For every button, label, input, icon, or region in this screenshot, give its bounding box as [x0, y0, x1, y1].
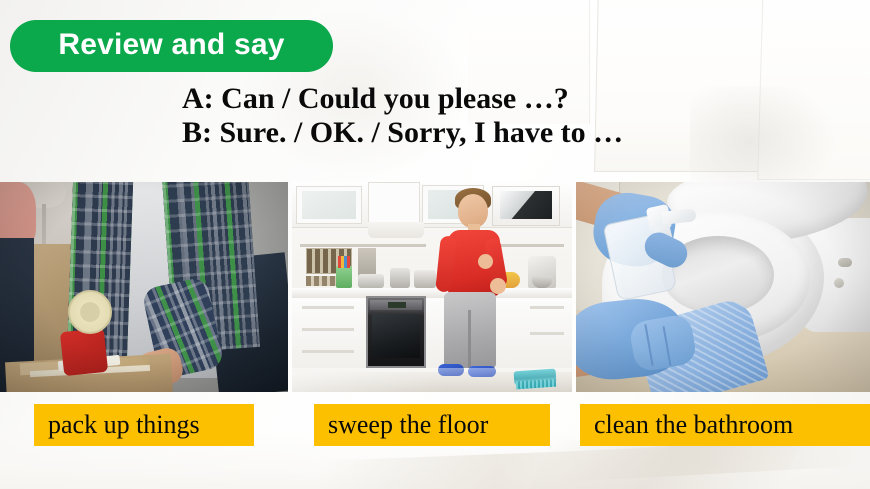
section-title-label: Review and say	[58, 30, 284, 62]
photo-clean-the-bathroom-scene	[576, 182, 870, 392]
photo-strip	[0, 182, 870, 392]
photo-pack-up-things	[0, 182, 288, 392]
background-light-streak-a	[317, 443, 788, 489]
caption-clean-the-bathroom-label: clean the bathroom	[580, 412, 807, 438]
caption-pack-up-things: pack up things	[34, 404, 254, 446]
slide-canvas: Review and say A: Can / Could you please…	[0, 0, 870, 489]
caption-pack-up-things-label: pack up things	[34, 412, 214, 438]
photo-sweep-the-floor	[292, 182, 572, 392]
dialogue-line-a: A: Can / Could you please …?	[182, 82, 862, 116]
caption-clean-the-bathroom: clean the bathroom	[580, 404, 870, 446]
photo-clean-the-bathroom	[576, 182, 870, 392]
dialogue-line-b: B: Sure. / OK. / Sorry, I have to …	[182, 116, 862, 150]
photo-pack-up-things-scene	[0, 182, 288, 392]
photo-sweep-the-floor-scene	[292, 182, 572, 392]
caption-sweep-the-floor-label: sweep the floor	[314, 412, 502, 438]
background-diagonal-highlight	[527, 440, 802, 489]
caption-sweep-the-floor: sweep the floor	[314, 404, 550, 446]
section-title-badge: Review and say	[10, 20, 333, 72]
dialogue-prompt: A: Can / Could you please …? B: Sure. / …	[182, 82, 862, 150]
